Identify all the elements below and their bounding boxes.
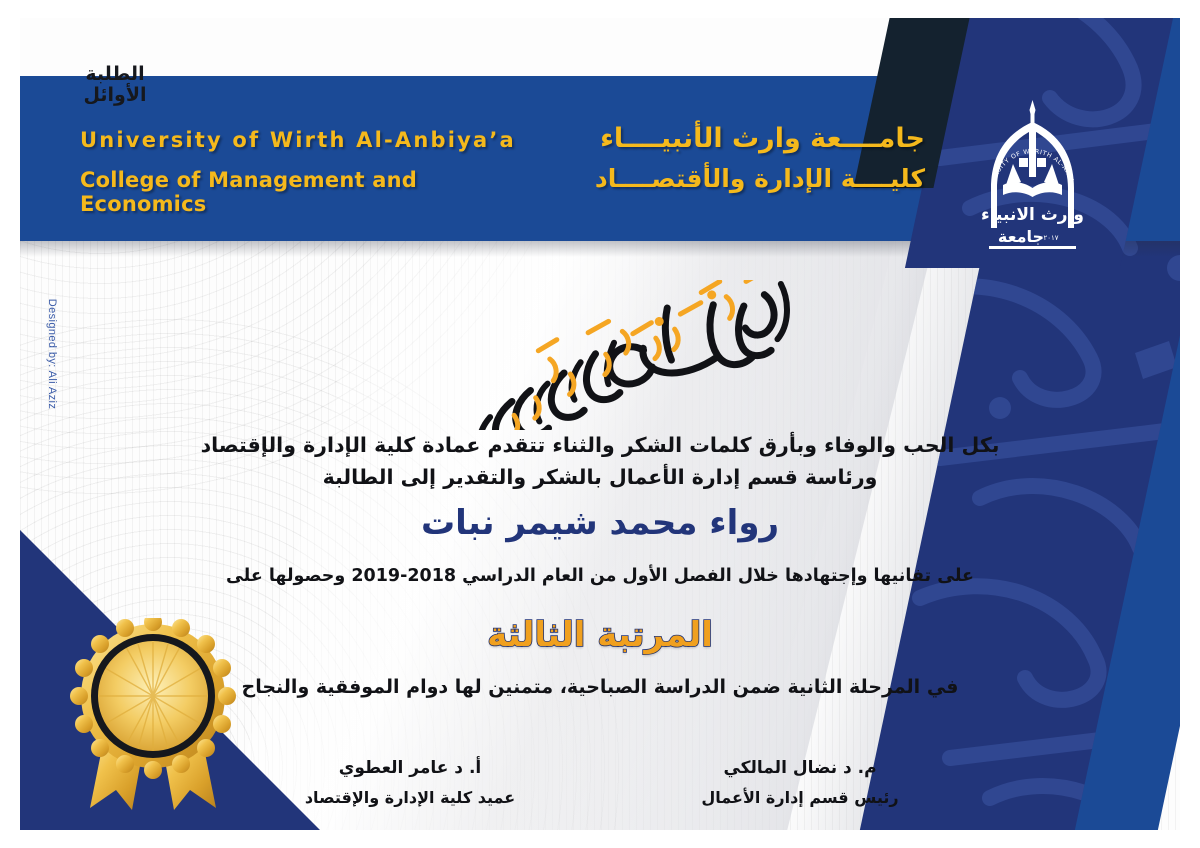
student-name: رواء محمد شيمر نبات <box>160 503 1040 543</box>
closing-line: في المرحلة الثانية ضمن الدراسة الصباحية،… <box>160 676 1040 698</box>
signature-block-department-head: م. د نضال المالكي رئيس قسم إدارة الأعمال <box>630 758 970 807</box>
designer-credit: Designed by: Ali Aziz <box>46 284 58 424</box>
signature-role-dean: عميد كلية الإدارة والإقتصاد <box>240 788 580 807</box>
certificate-page: University of Wirth Al-Anbiya’a College … <box>0 0 1200 848</box>
body-line-2: ورئاسة قسم إدارة الأعمال بالشكر والتقدير… <box>160 465 1040 489</box>
signature-name-dean: أ. د عامر العطوي <box>240 758 580 778</box>
body-line-1: بكل الحب والوفاء وبأرق كلمات الشكر والثن… <box>160 433 1040 457</box>
signature-name-department-head: م. د نضال المالكي <box>630 758 970 778</box>
rank-text: المرتبة الثالثة <box>160 615 1040 655</box>
achievement-line: على تفانيها وإجتهادها خلال الفصل الأول م… <box>160 566 1040 586</box>
certificate-paper: University of Wirth Al-Anbiya’a College … <box>20 18 1180 830</box>
signature-role-department-head: رئيس قسم إدارة الأعمال <box>630 788 970 807</box>
gold-award-seal-icon <box>58 618 248 818</box>
signature-block-dean: أ. د عامر العطوي عميد كلية الإدارة والإق… <box>240 758 580 807</box>
